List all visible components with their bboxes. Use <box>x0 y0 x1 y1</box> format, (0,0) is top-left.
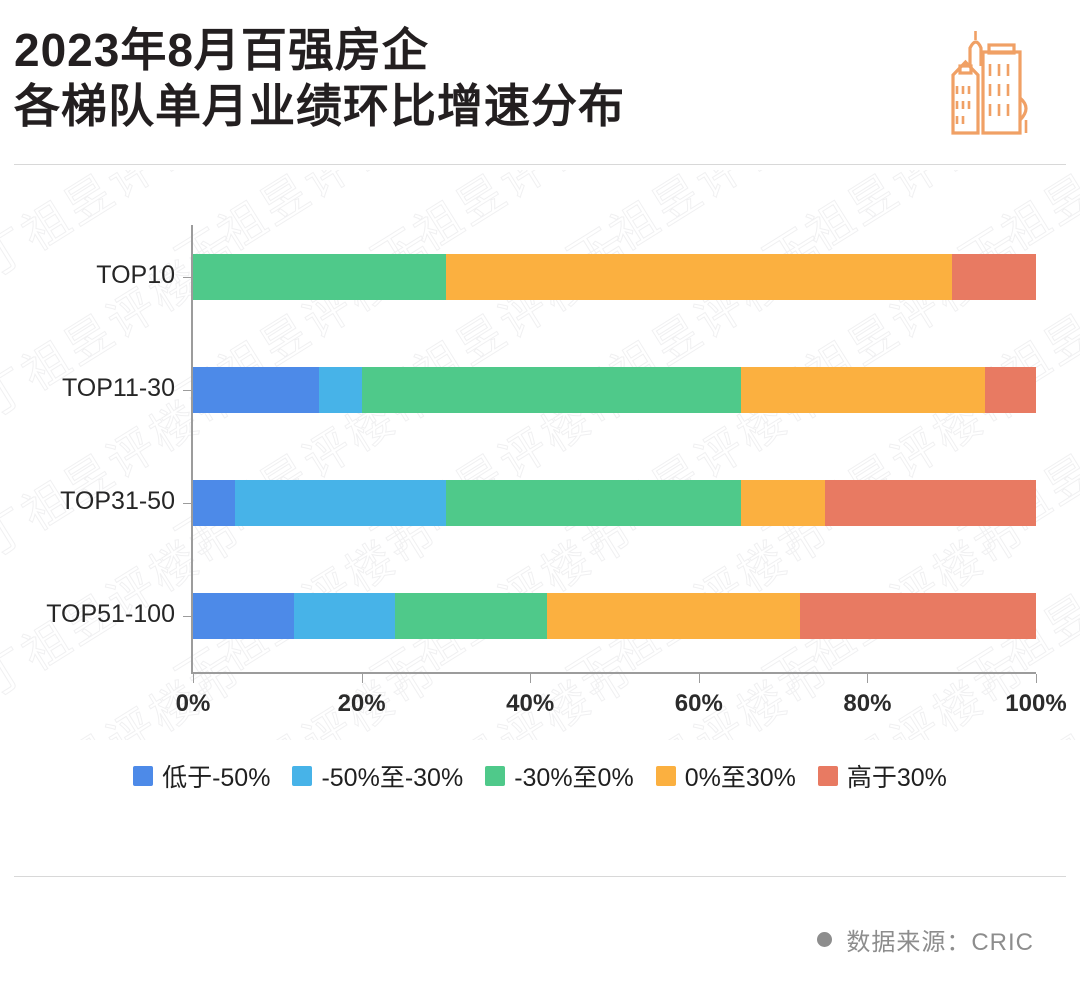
x-axis-tick-label: 20% <box>338 690 386 718</box>
legend-label: -30%至0% <box>514 758 634 794</box>
x-axis-tick-label: 60% <box>675 690 723 718</box>
x-axis-line <box>191 672 1036 674</box>
y-axis-tick <box>183 390 192 391</box>
y-axis-category-label: TOP11-30 <box>0 374 175 403</box>
bar-segment[interactable] <box>193 593 294 639</box>
title-line-1: 2023年8月百强房企 <box>14 22 834 78</box>
legend-item[interactable]: 0%至30% <box>656 758 796 794</box>
legend-label: 低于-50% <box>162 758 270 794</box>
legend-swatch <box>656 766 676 786</box>
bar-segment[interactable] <box>193 254 446 300</box>
title-line-2: 各梯队单月业绩环比增速分布 <box>14 78 834 134</box>
chart-legend: 低于-50%-50%至-30%-30%至0%0%至30%高于30% <box>0 756 1080 796</box>
data-source: 数据来源：CRIC <box>817 922 1034 957</box>
header-divider <box>14 164 1066 165</box>
y-axis-category-label: TOP51-100 <box>0 600 175 629</box>
legend-label: -50%至-30% <box>321 758 463 794</box>
x-axis-tick-label: 40% <box>506 690 554 718</box>
x-axis-tick-label: 80% <box>843 690 891 718</box>
chart: 丁祖昱评楼市丁祖昱评楼市丁祖昱评楼市丁祖昱评楼市丁祖昱评楼市丁祖昱评楼市丁祖昱评… <box>0 170 1080 740</box>
bar-row <box>193 254 1036 300</box>
x-axis-tick <box>1036 674 1037 683</box>
bar-segment[interactable] <box>193 367 319 413</box>
legend-label: 0%至30% <box>685 758 796 794</box>
bar-segment[interactable] <box>825 480 1036 526</box>
bar-segment[interactable] <box>294 593 395 639</box>
legend-item[interactable]: 低于-50% <box>133 758 270 794</box>
bar-segment[interactable] <box>800 593 1036 639</box>
footer-divider <box>14 876 1066 877</box>
legend-swatch <box>292 766 312 786</box>
y-axis-tick <box>183 503 192 504</box>
buildings-icon <box>923 28 1035 140</box>
legend-item[interactable]: -30%至0% <box>485 758 634 794</box>
y-axis-category-label: TOP31-50 <box>0 487 175 516</box>
bar-segment[interactable] <box>741 367 985 413</box>
x-axis-tick <box>362 674 363 683</box>
data-source-label: 数据来源：CRIC <box>846 922 1034 957</box>
y-axis-tick <box>183 616 192 617</box>
bar-segment[interactable] <box>985 367 1036 413</box>
y-axis-tick <box>183 277 192 278</box>
bar-segment[interactable] <box>446 480 741 526</box>
x-axis-tick-label: 100% <box>1005 690 1066 718</box>
legend-item[interactable]: 高于30% <box>818 758 947 794</box>
legend-label: 高于30% <box>847 758 947 794</box>
bar-segment[interactable] <box>741 480 825 526</box>
bar-segment[interactable] <box>319 367 361 413</box>
legend-swatch <box>133 766 153 786</box>
bar-row <box>193 367 1036 413</box>
legend-item[interactable]: -50%至-30% <box>292 758 463 794</box>
legend-swatch <box>818 766 838 786</box>
legend-swatch <box>485 766 505 786</box>
x-axis-tick <box>193 674 194 683</box>
bar-segment[interactable] <box>547 593 800 639</box>
plot-area: 0%20%40%60%80%100%TOP10TOP11-30TOP31-50T… <box>0 170 1080 740</box>
bullet-dot-icon <box>817 932 832 947</box>
y-axis-category-label: TOP10 <box>0 261 175 290</box>
header: 2023年8月百强房企 各梯队单月业绩环比增速分布 <box>0 0 1080 166</box>
bar-row <box>193 593 1036 639</box>
bar-segment[interactable] <box>193 480 235 526</box>
page-title: 2023年8月百强房企 各梯队单月业绩环比增速分布 <box>14 22 834 134</box>
bar-segment[interactable] <box>446 254 952 300</box>
x-axis-tick-label: 0% <box>176 690 211 718</box>
bar-segment[interactable] <box>952 254 1036 300</box>
x-axis-tick <box>530 674 531 683</box>
bar-row <box>193 480 1036 526</box>
x-axis-tick <box>699 674 700 683</box>
x-axis-tick <box>867 674 868 683</box>
bar-segment[interactable] <box>362 367 741 413</box>
bar-segment[interactable] <box>395 593 547 639</box>
bar-segment[interactable] <box>235 480 446 526</box>
